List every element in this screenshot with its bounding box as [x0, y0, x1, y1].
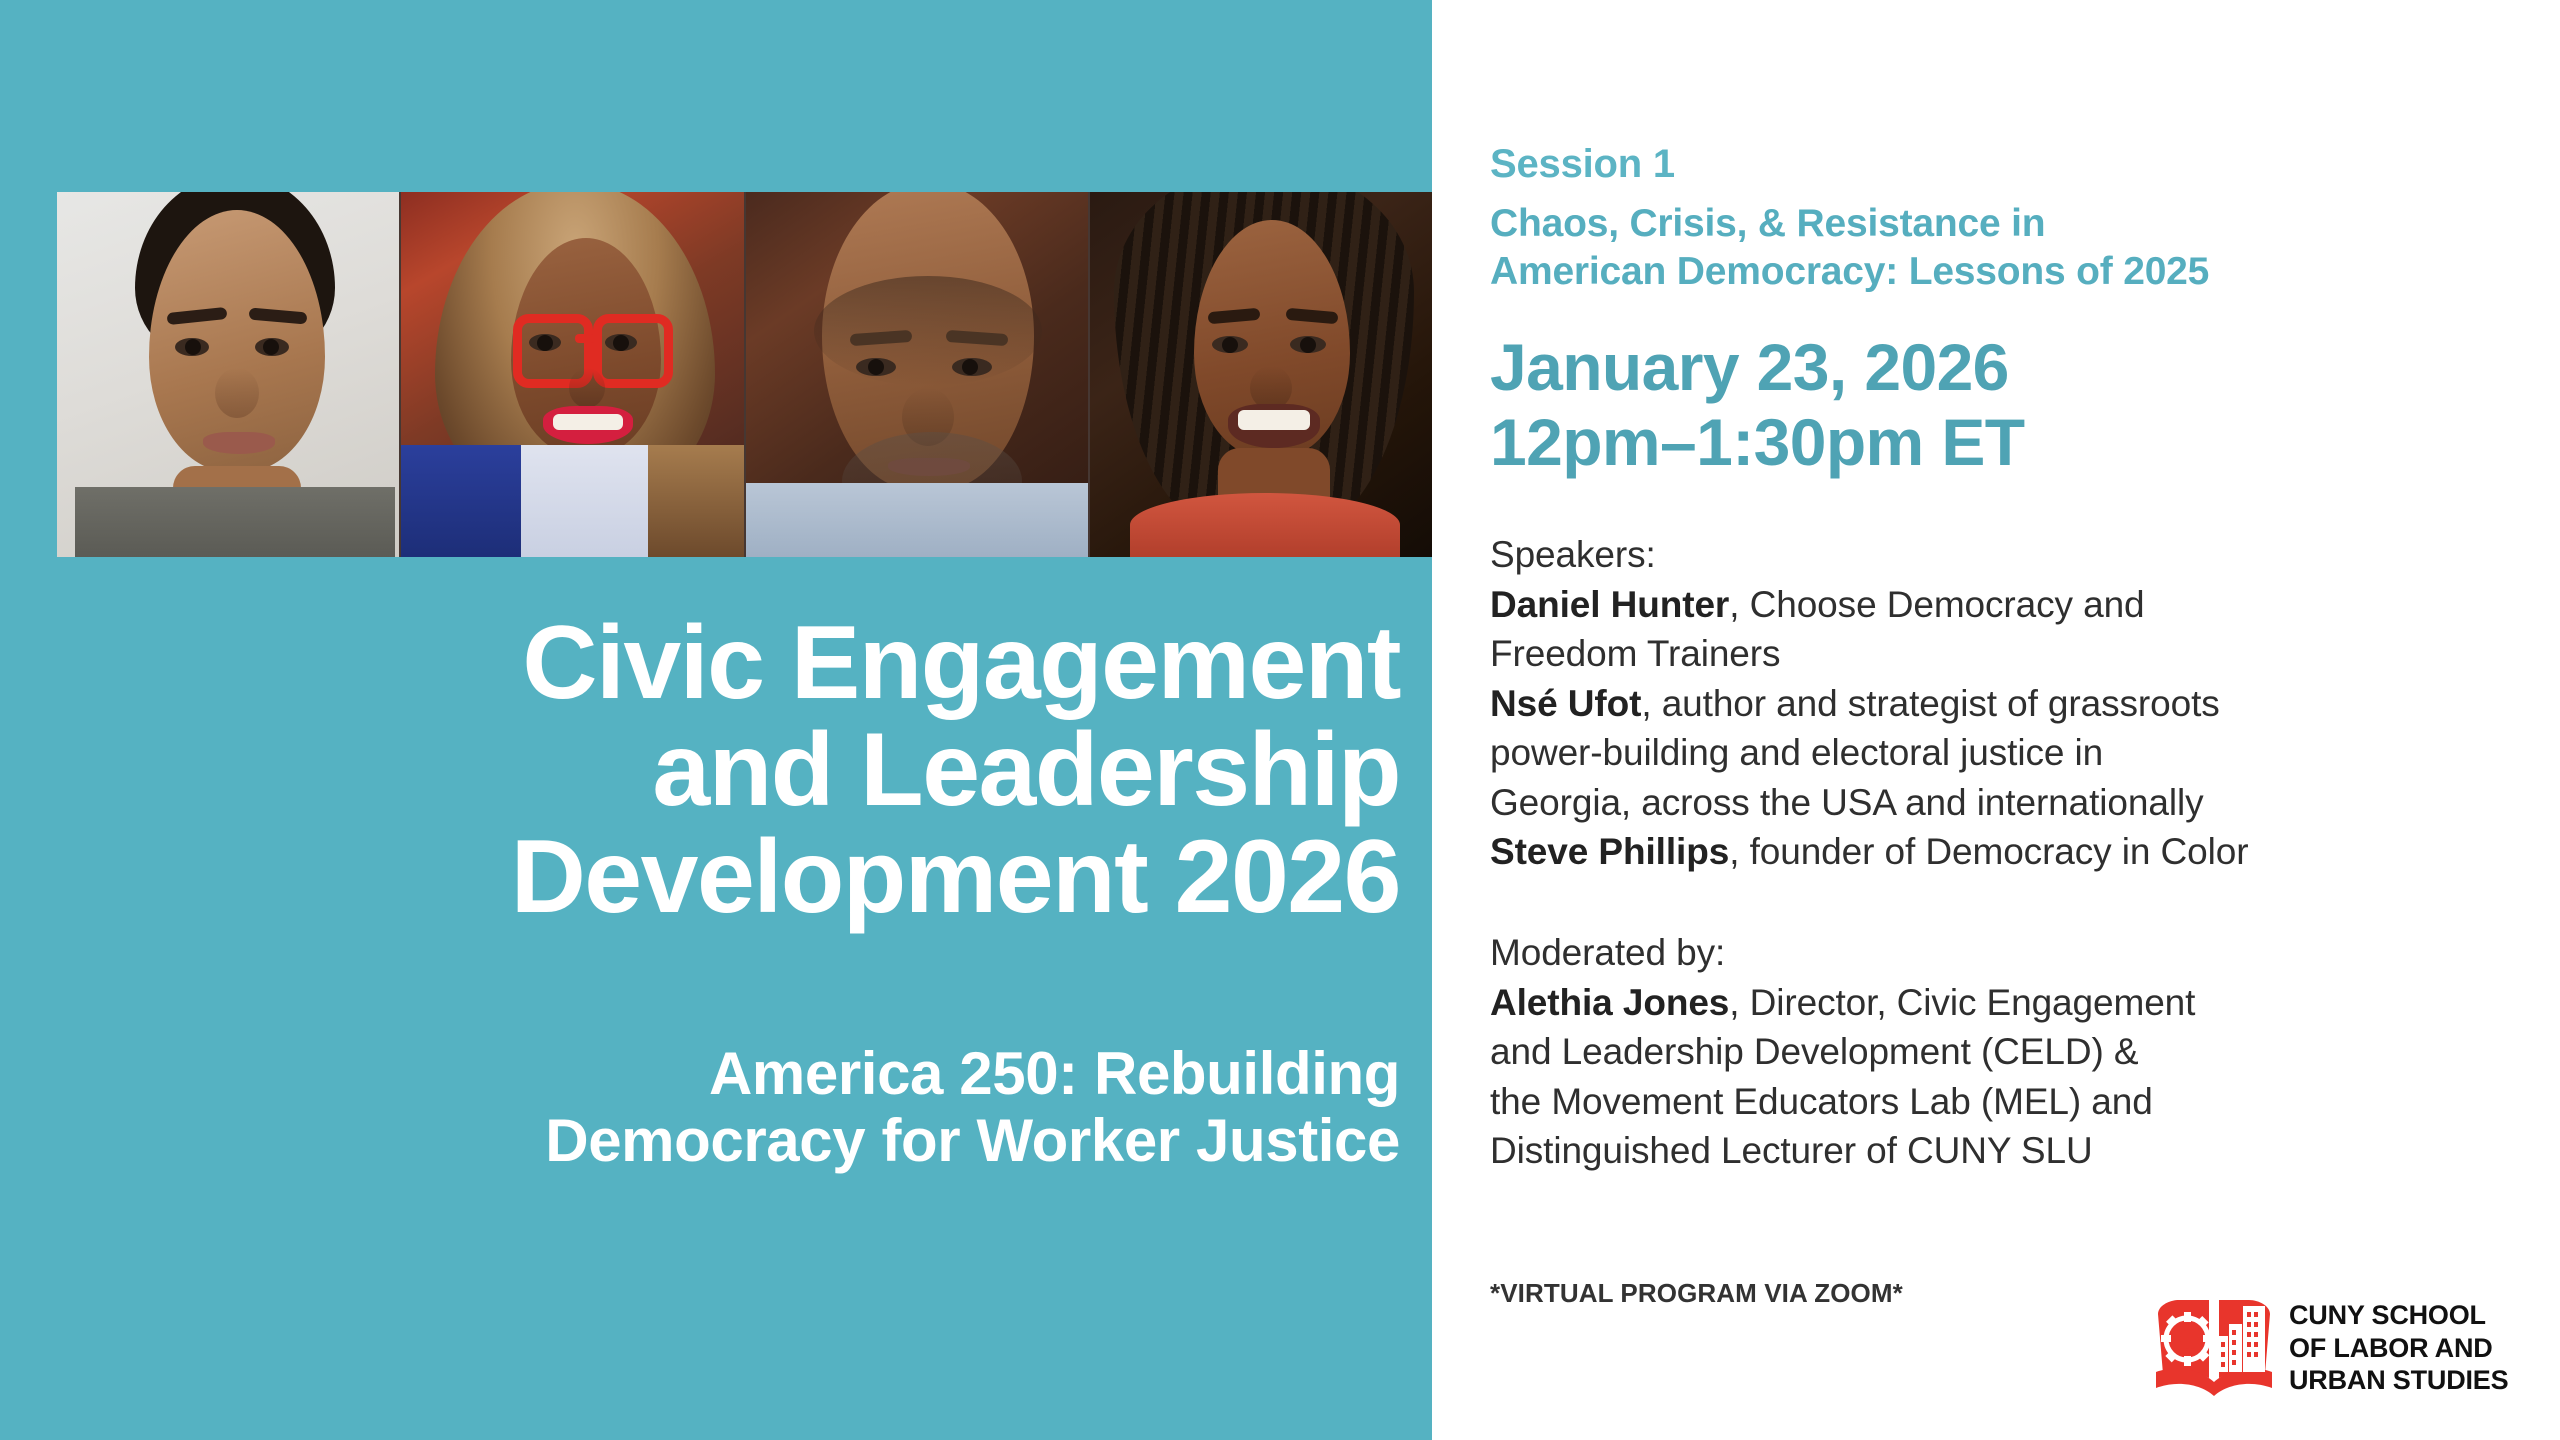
event-time: 12pm–1:30pm ET	[1490, 405, 2025, 480]
eyeglasses-bridge-2	[575, 334, 595, 343]
speaker-desc-6: , founder of Democracy in Color	[1729, 831, 2248, 872]
teeth-4	[1238, 410, 1310, 430]
session-title-line-1: Chaos, Crisis, & Resistance in	[1490, 200, 2209, 248]
speaker-name-1: Daniel Hunter	[1490, 584, 1729, 625]
teeth-2	[553, 414, 623, 430]
event-subtitle-line-2: Democracy for Worker Justice	[60, 1107, 1400, 1174]
speaker-portrait-1	[57, 192, 399, 557]
speaker-line-6: Steve Phillips, founder of Democracy in …	[1490, 827, 2520, 877]
blazer-right-2	[648, 445, 744, 557]
speaker-name-3: Nsé Ufot	[1490, 683, 1641, 724]
speaker-line-4: power-building and electoral justice in	[1490, 728, 2520, 778]
speakers-heading: Speakers:	[1490, 530, 2520, 580]
virtual-program-note: *VIRTUAL PROGRAM VIA ZOOM*	[1490, 1278, 1903, 1309]
logo-line-3: URBAN STUDIES	[2289, 1364, 2508, 1396]
moderator-line-4: Distinguished Lecturer of CUNY SLU	[1490, 1126, 2520, 1176]
session-title: Chaos, Crisis, & Resistance in American …	[1490, 200, 2209, 296]
open-book-gear-buildings-icon	[2155, 1292, 2273, 1404]
event-subtitle: America 250: Rebuilding Democracy for Wo…	[60, 1040, 1400, 1174]
speaker-portrait-4	[1088, 192, 1432, 557]
speaker-line-1: Daniel Hunter, Choose Democracy and	[1490, 580, 2520, 630]
nose-2	[569, 368, 605, 408]
moderator-heading: Moderated by:	[1490, 928, 2520, 978]
speaker-desc-1: , Choose Democracy and	[1729, 584, 2144, 625]
speaker-desc-4: power-building and electoral justice in	[1490, 732, 2103, 773]
pupil-left-3	[868, 359, 884, 375]
speaker-line-3: Nsé Ufot, author and strategist of grass…	[1490, 679, 2520, 729]
moderator-desc-2: and Leadership Development (CELD) &	[1490, 1031, 2138, 1072]
speaker-desc-5: Georgia, across the USA and internationa…	[1490, 782, 2204, 823]
pupil-left-1	[185, 339, 201, 355]
event-title-line-2: and Leadership	[60, 717, 1400, 824]
logo-line-1: CUNY SCHOOL	[2289, 1299, 2508, 1331]
speaker-photo-strip	[57, 192, 1432, 557]
pupil-left-4	[1222, 337, 1238, 353]
moderator-name-1: Alethia Jones	[1490, 982, 1729, 1023]
pupil-right-4	[1300, 337, 1316, 353]
shirt-1	[75, 487, 395, 557]
event-datetime: January 23, 2026 12pm–1:30pm ET	[1490, 330, 2025, 480]
speaker-name-6: Steve Phillips	[1490, 831, 1729, 872]
moderator-line-2: and Leadership Development (CELD) &	[1490, 1027, 2520, 1077]
speaker-desc-2: Freedom Trainers	[1490, 633, 1780, 674]
nose-1	[215, 368, 259, 418]
speaker-line-2: Freedom Trainers	[1490, 629, 2520, 679]
event-date: January 23, 2026	[1490, 330, 2025, 405]
speaker-portrait-2	[399, 192, 743, 557]
hair-temples-3	[814, 276, 1042, 386]
event-title: Civic Engagement and Leadership Developm…	[60, 610, 1400, 931]
shirt-3	[746, 483, 1088, 557]
speakers-section: Speakers: Daniel Hunter, Choose Democrac…	[1490, 530, 2520, 877]
logo-wordmark: CUNY SCHOOL OF LABOR AND URBAN STUDIES	[2289, 1299, 2508, 1396]
eyeglasses-right-lens-2	[593, 314, 673, 388]
cuny-slu-logo: CUNY SCHOOL OF LABOR AND URBAN STUDIES	[2155, 1292, 2508, 1404]
mouth-1	[203, 432, 275, 454]
moderator-line-3: the Movement Educators Lab (MEL) and	[1490, 1077, 2520, 1127]
speaker-line-5: Georgia, across the USA and internationa…	[1490, 778, 2520, 828]
moderator-desc-1: , Director, Civic Engagement	[1729, 982, 2195, 1023]
moderator-desc-3: the Movement Educators Lab (MEL) and	[1490, 1081, 2153, 1122]
event-flyer: Civic Engagement and Leadership Developm…	[0, 0, 2560, 1440]
moderator-line-1: Alethia Jones, Director, Civic Engagemen…	[1490, 978, 2520, 1028]
pupil-right-1	[263, 339, 279, 355]
speaker-desc-3: , author and strategist of grassroots	[1641, 683, 2219, 724]
event-title-line-1: Civic Engagement	[60, 610, 1400, 717]
pupil-right-3	[962, 359, 978, 375]
event-details-column: Session 1 Chaos, Crisis, & Resistance in…	[1490, 0, 2530, 1440]
session-label: Session 1	[1490, 142, 1675, 187]
session-title-line-2: American Democracy: Lessons of 2025	[1490, 248, 2209, 296]
logo-line-2: OF LABOR AND	[2289, 1332, 2508, 1364]
moderator-desc-4: Distinguished Lecturer of CUNY SLU	[1490, 1130, 2093, 1171]
event-subtitle-line-1: America 250: Rebuilding	[60, 1040, 1400, 1107]
event-title-line-3: Development 2026	[60, 824, 1400, 931]
speaker-portrait-3	[744, 192, 1088, 557]
moderator-section: Moderated by: Alethia Jones, Director, C…	[1490, 928, 2520, 1176]
blazer-2	[401, 445, 521, 557]
shirt-4	[1130, 493, 1400, 557]
